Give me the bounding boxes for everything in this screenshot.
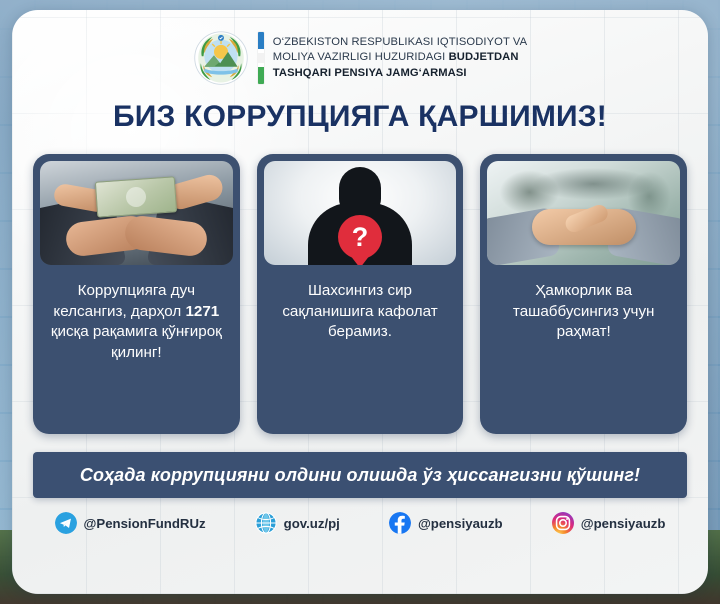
organization-name: O‘ZBEKISTON RESPUBLIKASI IQTISODIYOT VA …: [273, 35, 527, 82]
content-panel: O‘ZBEKISTON RESPUBLIKASI IQTISODIYOT VA …: [12, 10, 708, 594]
org-line-2: MOLIYA VAZIRLIGI HUZURIDAGI BUDJETDAN: [273, 50, 527, 66]
globe-icon[interactable]: [255, 512, 277, 534]
social-website[interactable]: gov.uz/pj: [255, 512, 340, 534]
page-title: БИЗ КОРРУПЦИЯГА ҚАРШИМИЗ!: [12, 100, 708, 134]
uzbekistan-state-emblem: [193, 30, 249, 86]
question-mark-glyph: ?: [352, 224, 369, 251]
question-mark-pin-icon: ?: [338, 215, 382, 259]
card-1-text-after: қисқа рақамига қўнғироқ қилинг!: [51, 323, 222, 361]
uzbekistan-flag-bar: [258, 32, 264, 84]
card-3-text: Ҳамкорлик ва ташаббусингиз учун раҳмат!: [493, 281, 674, 343]
bribe-money-handshake-photo: [40, 161, 233, 265]
business-handshake-photo: [487, 161, 680, 265]
anonymous-silhouette-question-photo: ?: [264, 161, 457, 265]
org-line-1: O‘ZBEKISTON RESPUBLIKASI IQTISODIYOT VA: [273, 35, 527, 51]
card-thanks: Ҳамкорлик ва ташаббусингиз учун раҳмат!: [480, 154, 687, 434]
instagram-icon[interactable]: [552, 512, 574, 534]
card-1-text-before: Коррупцияга дуч келсангиз, дарҳол: [53, 282, 195, 320]
card-anonymity-text: Шахсингиз сир сақланишига кафолат берами…: [264, 265, 457, 425]
card-hotline: Коррупцияга дуч келсангиз, дарҳол 1271 қ…: [33, 154, 240, 434]
card-1-hotline-number: 1271: [185, 303, 219, 320]
instagram-handle[interactable]: @pensiyauzb: [581, 516, 666, 531]
org-line-2-bold: BUDJETDAN: [449, 51, 519, 63]
banner-text: Соҳада коррупцияни олдини олишда ўз ҳисс…: [47, 463, 673, 487]
social-links: @PensionFundRUz gov.uz/pj: [12, 512, 708, 534]
cards-row: Коррупцияга дуч келсангиз, дарҳол 1271 қ…: [12, 154, 708, 434]
facebook-handle[interactable]: @pensiyauzb: [418, 516, 503, 531]
card-anonymity: ? Шахсингиз сир сақланишига кафолат бера…: [257, 154, 464, 434]
banknote: [95, 176, 177, 217]
social-instagram[interactable]: @pensiyauzb: [552, 512, 666, 534]
social-facebook[interactable]: @pensiyauzb: [389, 512, 503, 534]
poster: O‘ZBEKISTON RESPUBLIKASI IQTISODIYOT VA …: [0, 0, 720, 604]
org-line-3: TASHQARI PENSIYA JAMG‘ARMASI: [273, 66, 527, 82]
card-2-text: Шахсингиз сир сақланишига кафолат берами…: [270, 281, 451, 343]
website-url[interactable]: gov.uz/pj: [284, 516, 340, 531]
call-to-action-banner: Соҳада коррупцияни олдини олишда ўз ҳисс…: [33, 452, 687, 498]
header: O‘ZBEKISTON RESPUBLIKASI IQTISODIYOT VA …: [12, 10, 708, 86]
card-hotline-text: Коррупцияга дуч келсангиз, дарҳол 1271 қ…: [40, 265, 233, 425]
telegram-handle[interactable]: @PensionFundRUz: [84, 516, 206, 531]
social-telegram[interactable]: @PensionFundRUz: [55, 512, 206, 534]
card-thanks-text: Ҳамкорлик ва ташаббусингиз учун раҳмат!: [487, 265, 680, 425]
facebook-icon[interactable]: [389, 512, 411, 534]
org-line-2-plain: MOLIYA VAZIRLIGI HUZURIDAGI: [273, 51, 449, 63]
telegram-icon[interactable]: [55, 512, 77, 534]
